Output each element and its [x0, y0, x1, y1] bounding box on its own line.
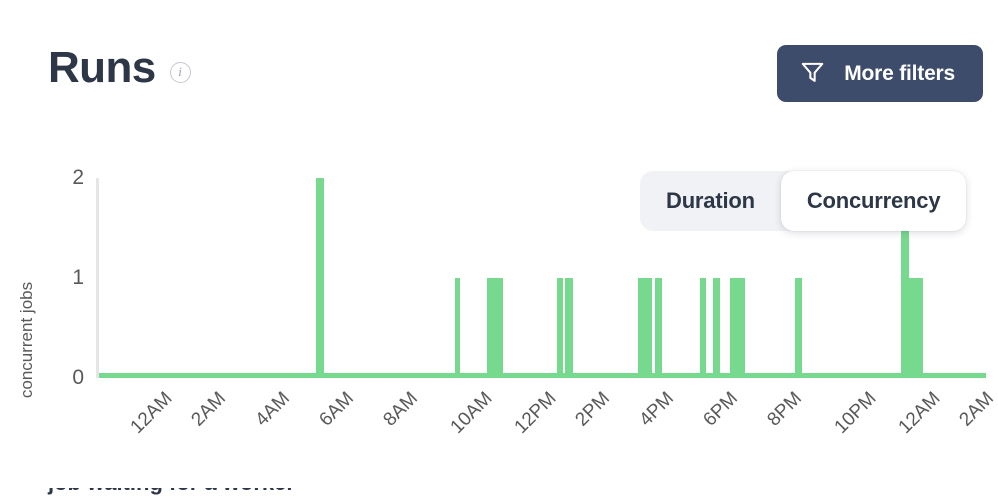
x-tick-label: 2AM — [955, 388, 998, 431]
x-tick-label: 8PM — [763, 388, 806, 431]
y-tick-0: 0 — [50, 367, 84, 388]
x-tick-label: 6AM — [315, 388, 358, 431]
funnel-icon — [799, 59, 826, 88]
x-tick-label: 4AM — [251, 388, 294, 431]
page-title: Runs — [48, 46, 156, 90]
bar[interactable] — [713, 278, 720, 378]
bar[interactable] — [316, 178, 324, 378]
x-tick-label: 10PM — [831, 388, 882, 439]
bar[interactable] — [901, 216, 909, 378]
chart-baseline — [99, 373, 986, 378]
x-tick-label: 10AM — [447, 388, 498, 439]
x-tick-label: 12AM — [895, 388, 946, 439]
bar[interactable] — [638, 278, 652, 378]
bar[interactable] — [565, 278, 573, 378]
info-icon[interactable]: i — [170, 62, 191, 83]
x-tick-label: 8AM — [379, 388, 422, 431]
x-axis-labels: 12AM2AM4AM6AM8AM10AM12PM2PM4PM6PM8PM10PM… — [0, 388, 998, 488]
toggle-option-duration[interactable]: Duration — [640, 171, 781, 231]
bar[interactable] — [487, 278, 503, 378]
y-tick-2: 2 — [50, 167, 84, 188]
x-tick-label: 2AM — [187, 388, 230, 431]
page-header: Runs i More filters — [0, 0, 998, 140]
bar[interactable] — [455, 278, 460, 378]
chart-mode-toggle: Duration Concurrency — [640, 171, 966, 231]
more-filters-label: More filters — [844, 62, 955, 86]
bar[interactable] — [557, 278, 563, 378]
x-tick-label: 4PM — [635, 388, 678, 431]
bar[interactable] — [700, 278, 706, 378]
x-tick-label: 2PM — [571, 388, 614, 431]
x-tick-label: 12AM — [127, 388, 178, 439]
footer-text: job waiting for a worker — [48, 488, 295, 496]
more-filters-button[interactable]: More filters — [777, 45, 983, 102]
x-tick-label: 12PM — [511, 388, 562, 439]
x-tick-label: 6PM — [699, 388, 742, 431]
runs-page: Runs i More filters Duration Concurrency… — [0, 0, 998, 498]
toggle-option-concurrency[interactable]: Concurrency — [781, 171, 967, 231]
bar[interactable] — [909, 278, 923, 378]
bar[interactable] — [795, 278, 802, 378]
page-title-group: Runs i — [48, 46, 191, 90]
bar[interactable] — [655, 278, 662, 378]
y-tick-1: 1 — [50, 267, 84, 288]
footer-clipped-text: job waiting for a worker — [0, 488, 998, 498]
bar[interactable] — [730, 278, 745, 378]
y-axis-ticks: 012 — [50, 150, 84, 390]
